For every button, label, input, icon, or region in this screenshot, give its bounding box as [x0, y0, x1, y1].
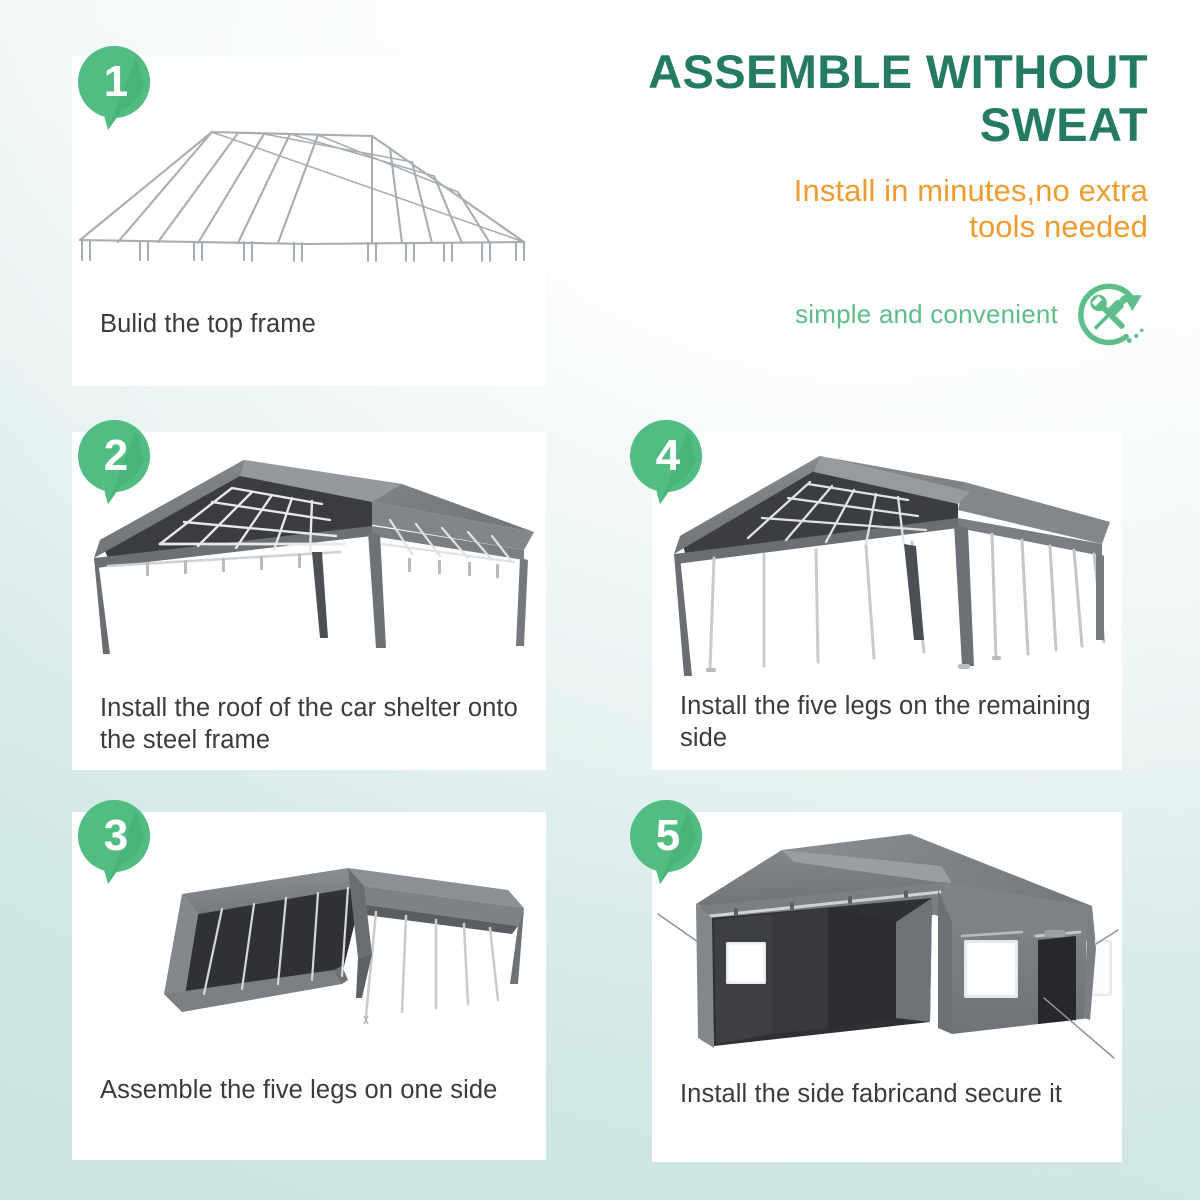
step-caption-2: Install the roof of the car shelter onto…	[100, 692, 530, 756]
step-badge-3-number: 3	[78, 800, 150, 872]
subtitle-line-1: Install in minutes,no extra	[794, 173, 1148, 208]
subtitle-line-2: tools needed	[969, 209, 1148, 244]
step-caption-4: Install the five legs on the remaining s…	[680, 690, 1106, 754]
page-title: ASSEMBLE WITHOUT SWEAT	[600, 46, 1148, 151]
tagline-row: simple and convenient	[600, 275, 1148, 353]
subtitle: Install in minutes,no extra tools needed	[600, 173, 1148, 245]
enclosed-garage-illustration	[652, 822, 1122, 1060]
step-caption-1: Bulid the top frame	[100, 308, 530, 340]
canopy-all-legs-illustration	[652, 440, 1122, 692]
step-badge-2: 2	[78, 420, 150, 504]
step-caption-3: Assemble the five legs on one side	[100, 1074, 530, 1106]
step-badge-2-number: 2	[78, 420, 150, 492]
step-panel-4: Install the five legs on the remaining s…	[652, 432, 1122, 770]
step-badge-4: 4	[630, 420, 702, 504]
step-badge-5-number: 5	[630, 800, 702, 872]
infographic-poster: ASSEMBLE WITHOUT SWEAT Install in minute…	[0, 0, 1200, 1200]
headline-line-1: ASSEMBLE WITHOUT	[648, 45, 1148, 98]
tagline-text: simple and convenient	[795, 299, 1058, 330]
tools-refresh-icon	[1070, 275, 1148, 353]
step-badge-4-number: 4	[630, 420, 702, 492]
step-badge-5: 5	[630, 800, 702, 884]
header-block: ASSEMBLE WITHOUT SWEAT Install in minute…	[600, 46, 1148, 353]
step-caption-5: Install the side fabricand secure it	[680, 1078, 1106, 1110]
step-panel-5: Install the side fabricand secure it	[652, 812, 1122, 1162]
step-badge-1: 1	[78, 46, 150, 130]
headline-line-2: SWEAT	[980, 98, 1148, 151]
step-badge-3: 3	[78, 800, 150, 884]
step-badge-1-number: 1	[78, 46, 150, 118]
